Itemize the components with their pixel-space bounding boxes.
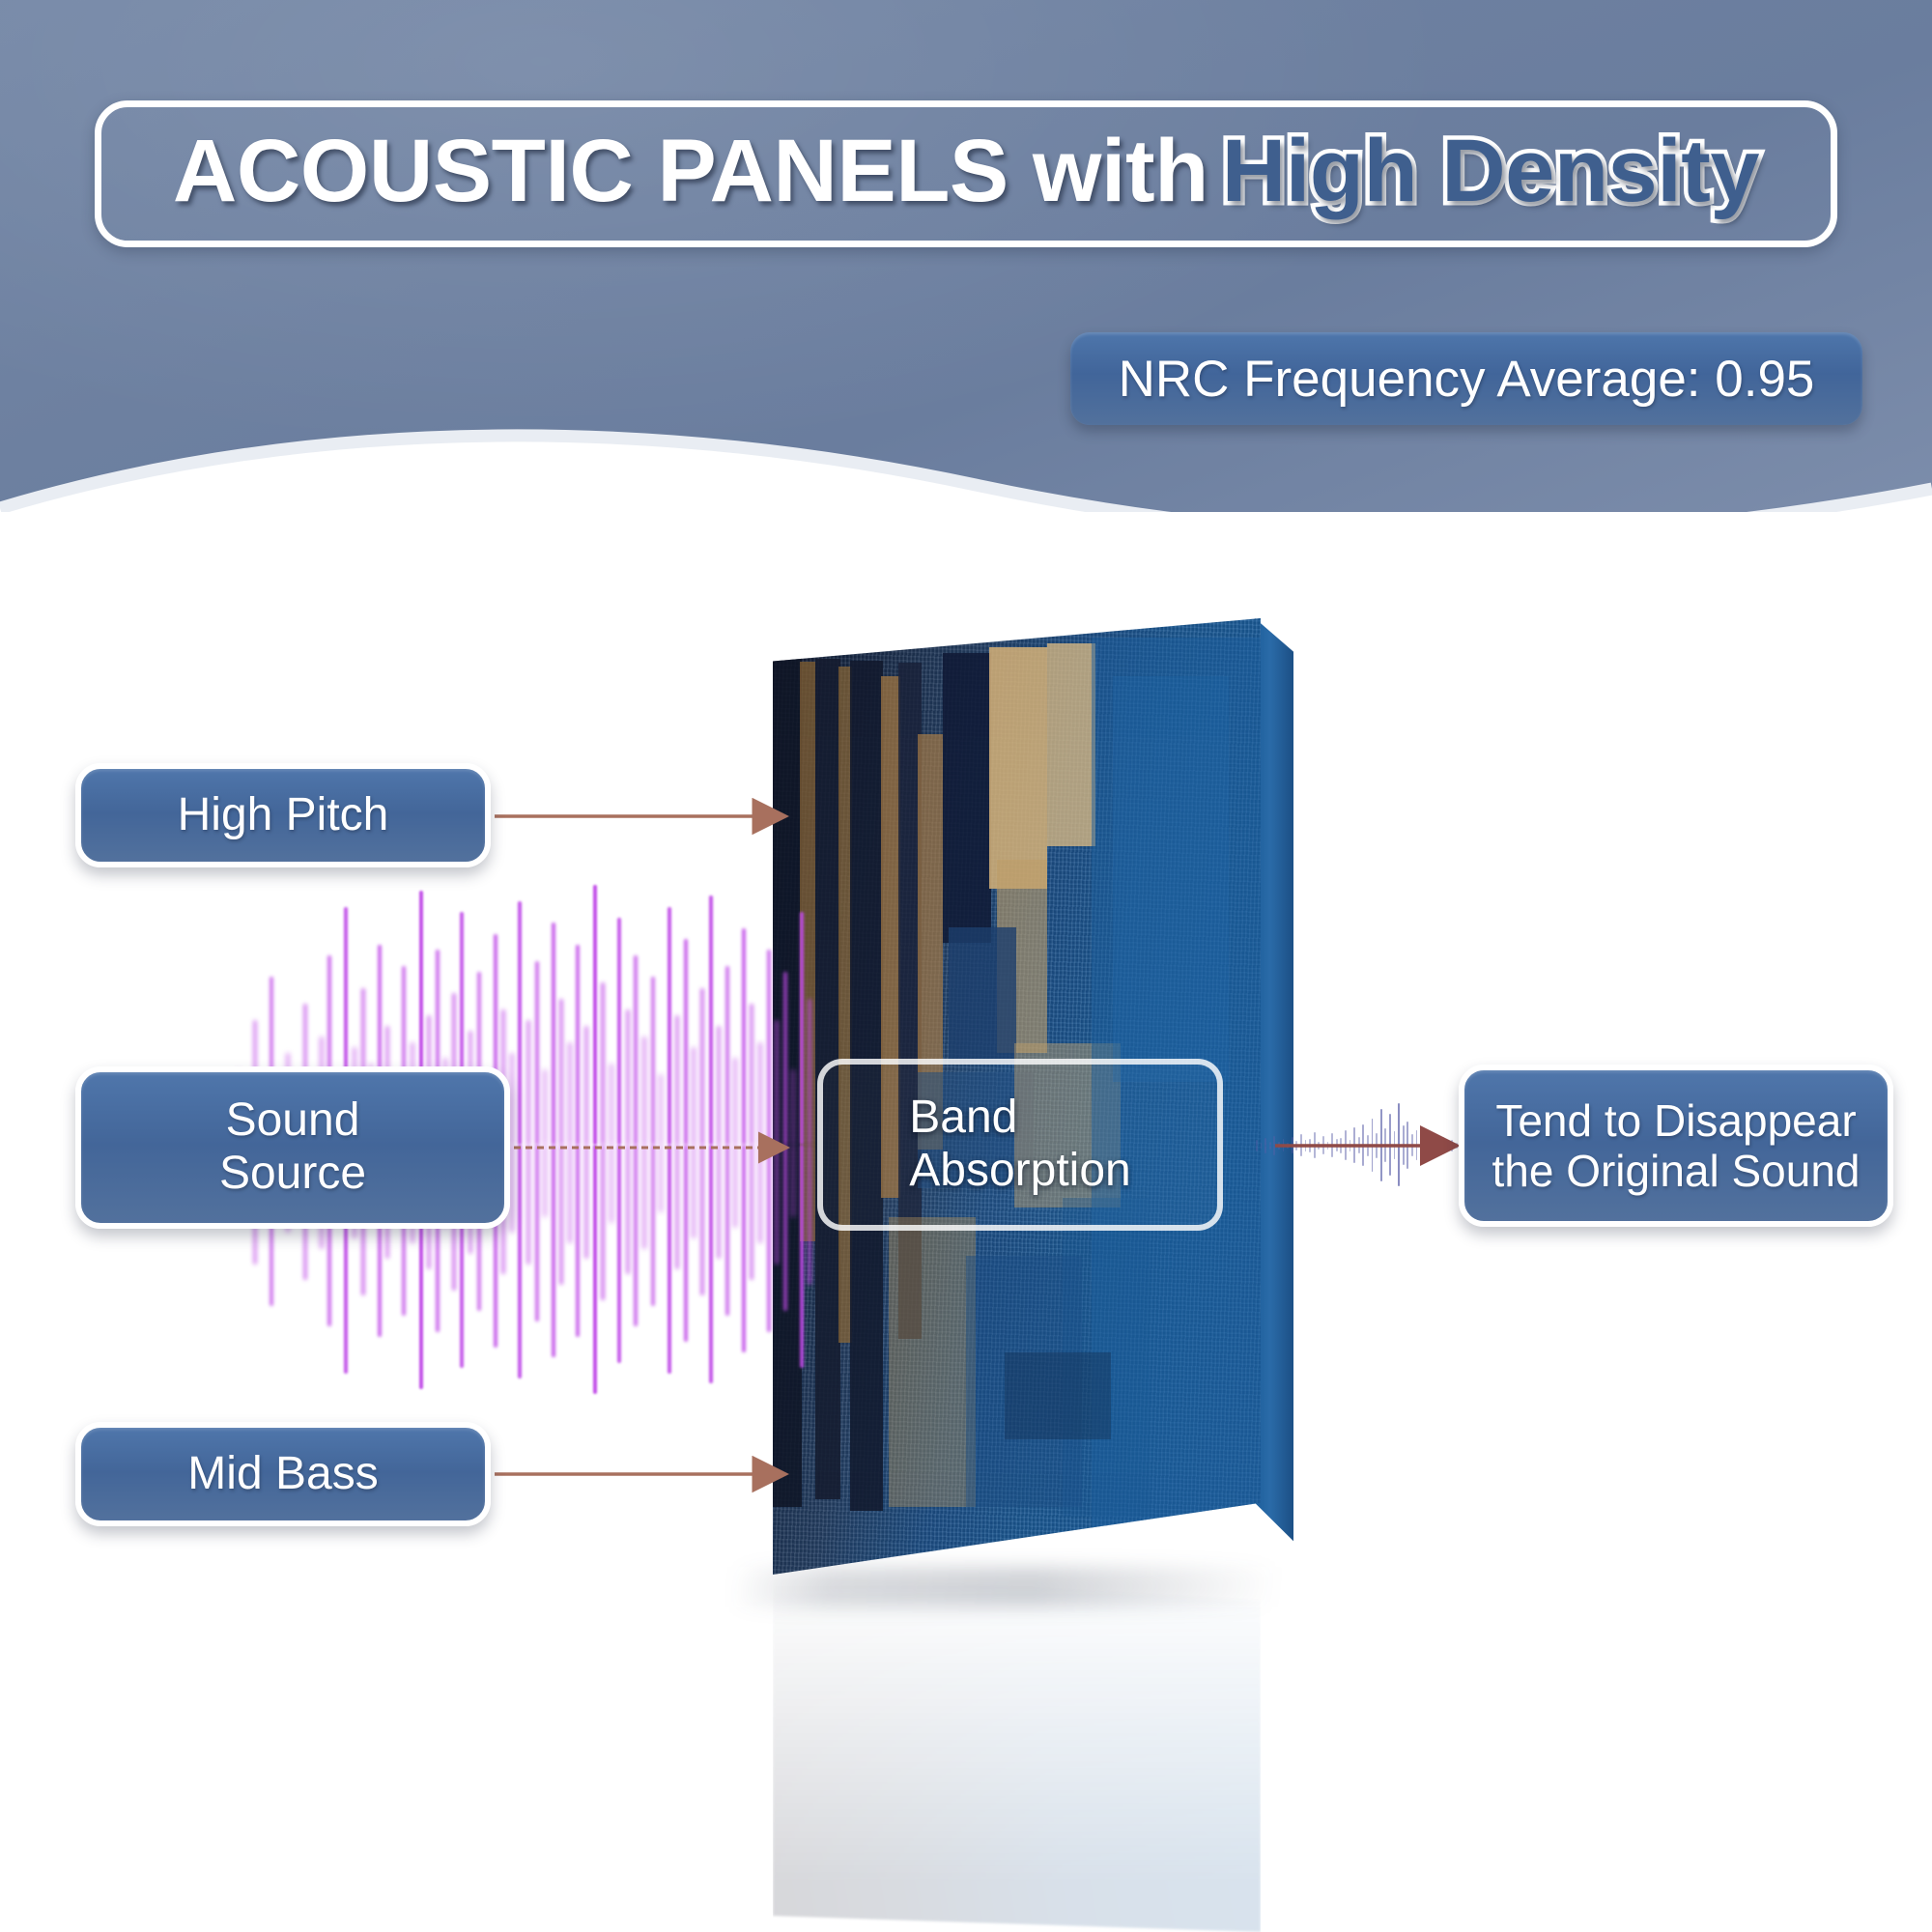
- waveform-bar: [1345, 1130, 1347, 1146]
- waveform-bar: [568, 1145, 572, 1243]
- outgoing-waveform: [1256, 1074, 1478, 1217]
- waveform-bar: [1358, 1137, 1360, 1146]
- waveform-bar: [642, 1145, 646, 1249]
- waveform-bar: [601, 1145, 605, 1300]
- waveform-bar: [518, 1145, 522, 1378]
- waveform-bar: [1340, 1138, 1342, 1146]
- waveform-bar: [700, 988, 704, 1145]
- waveform-bar: [1295, 1146, 1297, 1151]
- waveform-bar: [510, 1145, 514, 1233]
- waveform-bar: [1287, 1146, 1289, 1149]
- waveform-bar: [1389, 1146, 1391, 1176]
- label-result-line2: the Original Sound: [1492, 1146, 1860, 1196]
- waveform-bar: [692, 1047, 696, 1145]
- waveform-bar: [1416, 1146, 1418, 1160]
- waveform-bar: [1434, 1139, 1435, 1146]
- waveform-bar: [709, 895, 713, 1145]
- waveform-bar: [1292, 1146, 1293, 1153]
- waveform-bar: [1403, 1146, 1405, 1165]
- waveform-bar: [1398, 1103, 1400, 1146]
- waveform-bar: [733, 1145, 737, 1228]
- label-sound-source[interactable]: SoundSource: [75, 1066, 510, 1229]
- waveform-bar: [1358, 1146, 1360, 1153]
- waveform-bar: [584, 1145, 588, 1259]
- label-result-line1: Tend to Disappear: [1495, 1095, 1856, 1146]
- label-sound-source-text: SoundSource: [206, 1094, 380, 1200]
- waveform-bar: [1425, 1136, 1427, 1146]
- waveform-bar: [651, 1145, 655, 1306]
- waveform-bar: [601, 982, 605, 1145]
- waveform-bar: [1322, 1136, 1324, 1146]
- waveform-bar: [684, 939, 688, 1145]
- waveform-bar: [717, 1026, 721, 1145]
- label-sound-source-line1: Sound: [226, 1094, 360, 1146]
- waveform-bar: [593, 885, 597, 1145]
- waveform-bar: [1376, 1133, 1378, 1146]
- waveform-bar: [1256, 1146, 1258, 1151]
- waveform-bar: [642, 1037, 646, 1145]
- waveform-bar: [526, 1145, 530, 1264]
- infographic-canvas: ACOUSTIC PANELS withHigh Density NRC Fre…: [0, 0, 1932, 1932]
- waveform-bar: [1314, 1146, 1316, 1158]
- waveform-bar: [1336, 1146, 1338, 1151]
- waveform-bar: [1411, 1146, 1413, 1156]
- waveform-bar: [552, 1145, 555, 1357]
- waveform-bar: [1376, 1146, 1378, 1158]
- page-title: ACOUSTIC PANELS withHigh Density: [173, 127, 1759, 215]
- waveform-bar: [543, 1069, 547, 1145]
- label-high-pitch[interactable]: High Pitch: [75, 763, 491, 867]
- waveform-bar: [617, 1145, 621, 1363]
- waveform-bar: [1416, 1130, 1418, 1146]
- waveform-bar: [1261, 1146, 1263, 1149]
- waveform-bar: [668, 907, 671, 1145]
- waveform-bar: [1384, 1146, 1386, 1162]
- waveform-bar: [1292, 1137, 1293, 1146]
- waveform-bar: [808, 999, 811, 1145]
- waveform-bar: [1283, 1139, 1285, 1146]
- waveform-bar: [1420, 1146, 1422, 1152]
- waveform-bar: [510, 1053, 514, 1145]
- nrc-badge: NRC Frequency Average: 0.95: [1070, 332, 1862, 425]
- label-result[interactable]: Tend to Disappearthe Original Sound: [1459, 1065, 1893, 1227]
- waveform-bar: [1353, 1127, 1355, 1146]
- waveform-bar: [709, 1145, 713, 1383]
- waveform-bar: [526, 1020, 530, 1145]
- waveform-bar: [1345, 1146, 1347, 1160]
- waveform-bar: [535, 1145, 539, 1321]
- waveform-bar: [1367, 1135, 1369, 1146]
- waveform-bar: [610, 1064, 613, 1145]
- waveform-bar: [1394, 1146, 1396, 1159]
- waveform-bar: [1442, 1146, 1444, 1153]
- waveform-bar: [1389, 1114, 1391, 1146]
- label-sound-source-line2: Source: [219, 1148, 366, 1199]
- waveform-bar: [1340, 1146, 1342, 1153]
- waveform-bar: [1394, 1131, 1396, 1146]
- waveform-bar: [518, 901, 522, 1145]
- waveform-bar: [1362, 1124, 1364, 1146]
- waveform-bar: [559, 999, 563, 1145]
- waveform-bar: [717, 1145, 721, 1259]
- waveform-bar: [750, 1004, 753, 1145]
- waveform-bar: [791, 1145, 795, 1217]
- waveform-bar: [659, 1145, 663, 1212]
- waveform-bar: [1264, 1138, 1266, 1146]
- waveform-bar: [1309, 1139, 1311, 1146]
- waveform-bar: [1269, 1146, 1271, 1150]
- waveform-bar: [783, 1145, 787, 1311]
- waveform-bar: [1420, 1139, 1422, 1146]
- waveform-bar: [675, 1015, 679, 1145]
- waveform-bar: [1336, 1139, 1338, 1146]
- waveform-bar: [725, 1145, 729, 1316]
- waveform-bar: [1442, 1137, 1444, 1146]
- waveform-bar: [668, 1145, 671, 1374]
- waveform-bar: [725, 966, 729, 1145]
- waveform-bar: [617, 918, 621, 1145]
- waveform-bar: [1403, 1125, 1405, 1146]
- waveform-bar: [1314, 1132, 1316, 1146]
- label-band-absorption-text: BandAbsorption: [895, 1092, 1144, 1197]
- waveform-bar: [758, 1042, 762, 1145]
- waveform-bar: [1353, 1146, 1355, 1163]
- waveform-bar: [1300, 1134, 1302, 1146]
- waveform-bar: [767, 1145, 771, 1332]
- waveform-bar: [1380, 1109, 1382, 1146]
- waveform-bar: [1278, 1146, 1280, 1150]
- waveform-bar: [1406, 1146, 1408, 1169]
- label-mid-bass-text: Mid Bass: [174, 1448, 391, 1501]
- waveform-bar: [1283, 1146, 1285, 1151]
- waveform-bar: [1305, 1146, 1307, 1151]
- waveform-bar: [1331, 1133, 1333, 1146]
- waveform-bar: [1273, 1146, 1275, 1155]
- waveform-bar: [750, 1145, 753, 1280]
- waveform-bar: [684, 1145, 688, 1342]
- waveform-bar: [626, 1145, 630, 1274]
- label-high-pitch-text: High Pitch: [164, 789, 403, 842]
- waveform-bar: [535, 961, 539, 1145]
- waveform-bar: [808, 1145, 811, 1285]
- waveform-bar: [675, 1145, 679, 1269]
- waveform-bar: [775, 1020, 779, 1145]
- waveform-bar: [1322, 1146, 1324, 1154]
- waveform-bar: [1429, 1146, 1431, 1151]
- waveform-bar: [1372, 1119, 1374, 1146]
- waveform-bar: [1372, 1146, 1374, 1172]
- waveform-bar: [767, 950, 771, 1145]
- waveform-bar: [742, 1145, 746, 1352]
- waveform-bar: [1331, 1146, 1333, 1157]
- waveform-bar: [659, 1074, 663, 1145]
- waveform-bar: [584, 1026, 588, 1145]
- waveform-bar: [651, 977, 655, 1145]
- waveform-bar: [1447, 1146, 1449, 1150]
- waveform-bar: [1309, 1146, 1311, 1152]
- waveform-bar: [1398, 1146, 1400, 1186]
- waveform-bar: [1456, 1146, 1458, 1149]
- waveform-bar: [700, 1145, 704, 1295]
- waveform-bar: [800, 1145, 804, 1368]
- waveform-bar: [610, 1145, 613, 1223]
- waveform-bar: [576, 945, 580, 1145]
- waveform-bar: [1350, 1146, 1351, 1151]
- label-band-absorption[interactable]: BandAbsorption: [817, 1059, 1223, 1231]
- waveform-bar: [742, 928, 746, 1145]
- waveform-bar: [783, 972, 787, 1145]
- waveform-bar: [568, 1042, 572, 1145]
- page-title-box: ACOUSTIC PANELS withHigh Density: [95, 100, 1837, 247]
- waveform-bar: [1451, 1146, 1453, 1151]
- waveform-bar: [1367, 1146, 1369, 1156]
- waveform-bar: [634, 955, 638, 1145]
- label-mid-bass[interactable]: Mid Bass: [75, 1422, 491, 1526]
- waveform-bar: [733, 1058, 737, 1145]
- waveform-bar: [576, 1145, 580, 1337]
- waveform-bar: [1406, 1122, 1408, 1146]
- waveform-bar: [1300, 1146, 1302, 1156]
- waveform-bar: [626, 1009, 630, 1145]
- waveform-bar: [559, 1145, 563, 1285]
- waveform-bar: [1425, 1146, 1427, 1155]
- label-band-absorption-line2: Absorption: [909, 1145, 1130, 1196]
- waveform-bar: [552, 923, 555, 1145]
- waveform-bar: [1434, 1146, 1435, 1151]
- waveform-bar: [1273, 1136, 1275, 1146]
- waveform-bar: [775, 1145, 779, 1264]
- waveform-bar: [634, 1145, 638, 1326]
- waveform-bar: [1362, 1146, 1364, 1166]
- nrc-badge-label: NRC Frequency Average: 0.95: [1119, 350, 1815, 409]
- waveform-bar: [543, 1145, 547, 1217]
- label-result-text: Tend to Disappearthe Original Sound: [1478, 1095, 1873, 1197]
- label-band-absorption-line1: Band: [909, 1092, 1017, 1143]
- waveform-bar: [1327, 1146, 1329, 1150]
- waveform-bar: [593, 1145, 597, 1394]
- waveform-bar: [1438, 1146, 1440, 1150]
- waveform-bar: [1411, 1134, 1413, 1146]
- waveform-bar: [1318, 1146, 1320, 1150]
- waveform-bar: [692, 1145, 696, 1238]
- waveform-bar: [1384, 1128, 1386, 1146]
- waveform-bar: [791, 1069, 795, 1145]
- page-title-highlight: High Density: [1222, 122, 1759, 220]
- waveform-bar: [758, 1145, 762, 1243]
- waveform-bar: [1380, 1146, 1382, 1181]
- waveform-bar: [800, 912, 804, 1145]
- page-title-primary: ACOUSTIC PANELS with: [173, 122, 1208, 220]
- waveform-bar: [1264, 1146, 1266, 1153]
